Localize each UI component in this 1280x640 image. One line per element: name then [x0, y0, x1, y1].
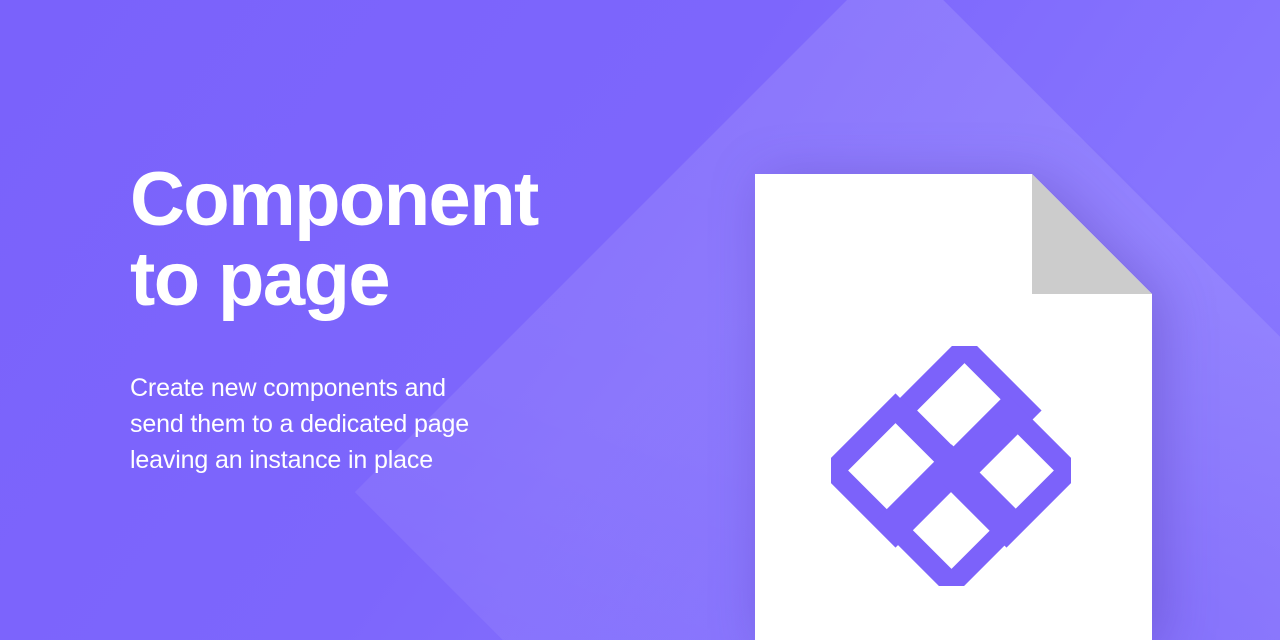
- copy-block: Component to page Create new components …: [130, 160, 650, 478]
- page-subtitle: Create new components and send them to a…: [130, 320, 650, 478]
- page-corner-fold-icon: [1032, 174, 1152, 294]
- promo-banner: Component to page Create new components …: [0, 0, 1280, 640]
- page-title: Component to page: [130, 160, 650, 320]
- component-icon: [831, 346, 1071, 586]
- page-document-illustration: [755, 174, 1152, 640]
